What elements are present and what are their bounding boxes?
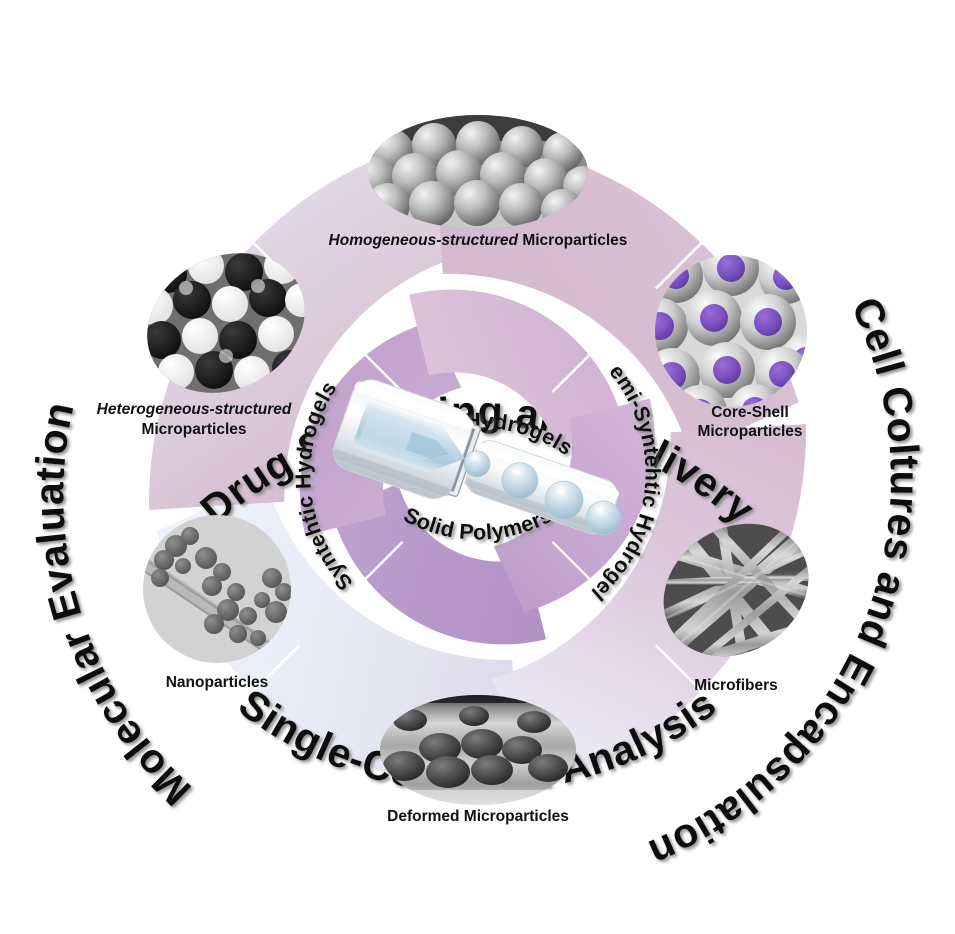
applications-wheel-diagram: Drug Screening and Delivery Cell Colture… [0,0,955,934]
caption-deformed: Deformed Microparticles [387,808,569,825]
figure-canvas: Drug Screening and Delivery Cell Colture… [0,0,955,934]
caption-core-shell-line1: Core-Shell [711,404,789,421]
caption-core-shell-line2: Microparticles [697,423,802,440]
caption-heterogeneous-line1: Heterogeneous-structured [97,401,292,418]
caption-homogeneous: Homogeneous-structured Microparticles [329,232,628,249]
caption-nanoparticles: Nanoparticles [166,674,269,691]
caption-heterogeneous-line2: Microparticles [141,421,246,438]
caption-microfibers: Microfibers [694,677,778,694]
